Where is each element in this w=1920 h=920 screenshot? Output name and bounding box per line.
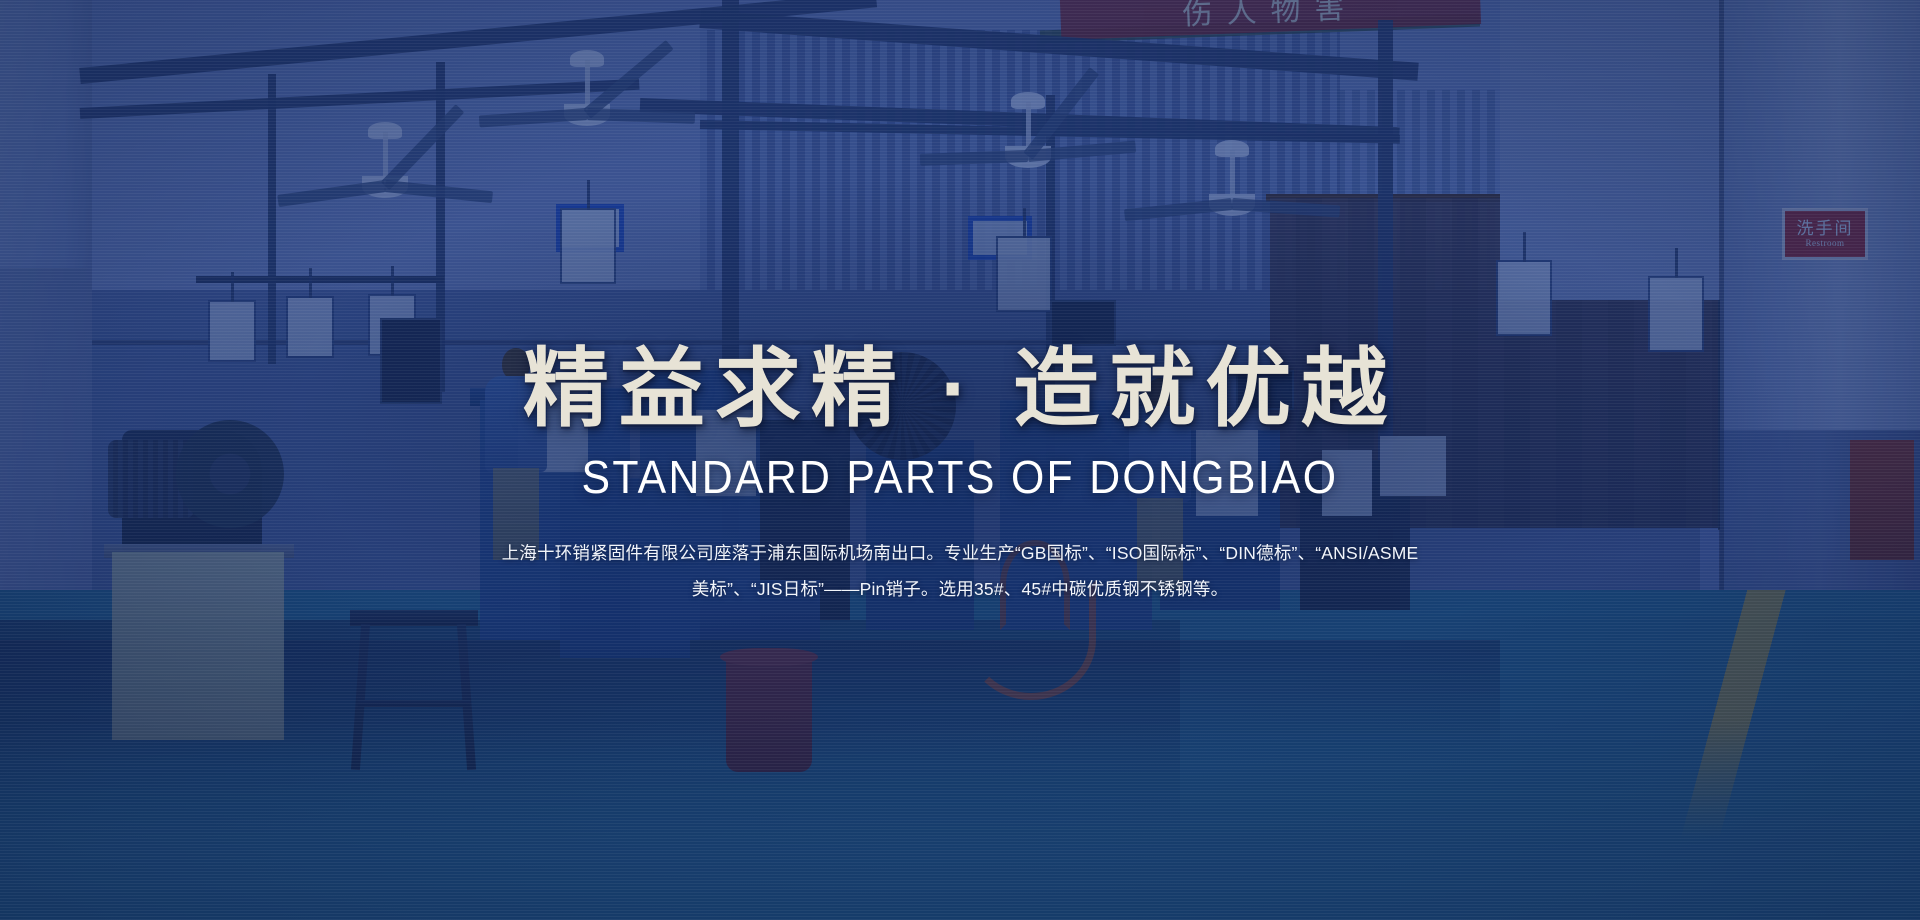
hero-banner: 洗手间 Restroom 伤人物害 (0, 0, 1920, 920)
hero-description: 上海十环销紧固件有限公司座落于浦东国际机场南出口。专业生产“GB国标”、“ISO… (495, 536, 1425, 608)
hero-subtitle: STANDARD PARTS OF DONGBIAO (582, 450, 1339, 504)
hero-content: 精益求精 · 造就优越 STANDARD PARTS OF DONGBIAO 上… (0, 0, 1920, 920)
hero-title: 精益求精 · 造就优越 (523, 342, 1397, 437)
